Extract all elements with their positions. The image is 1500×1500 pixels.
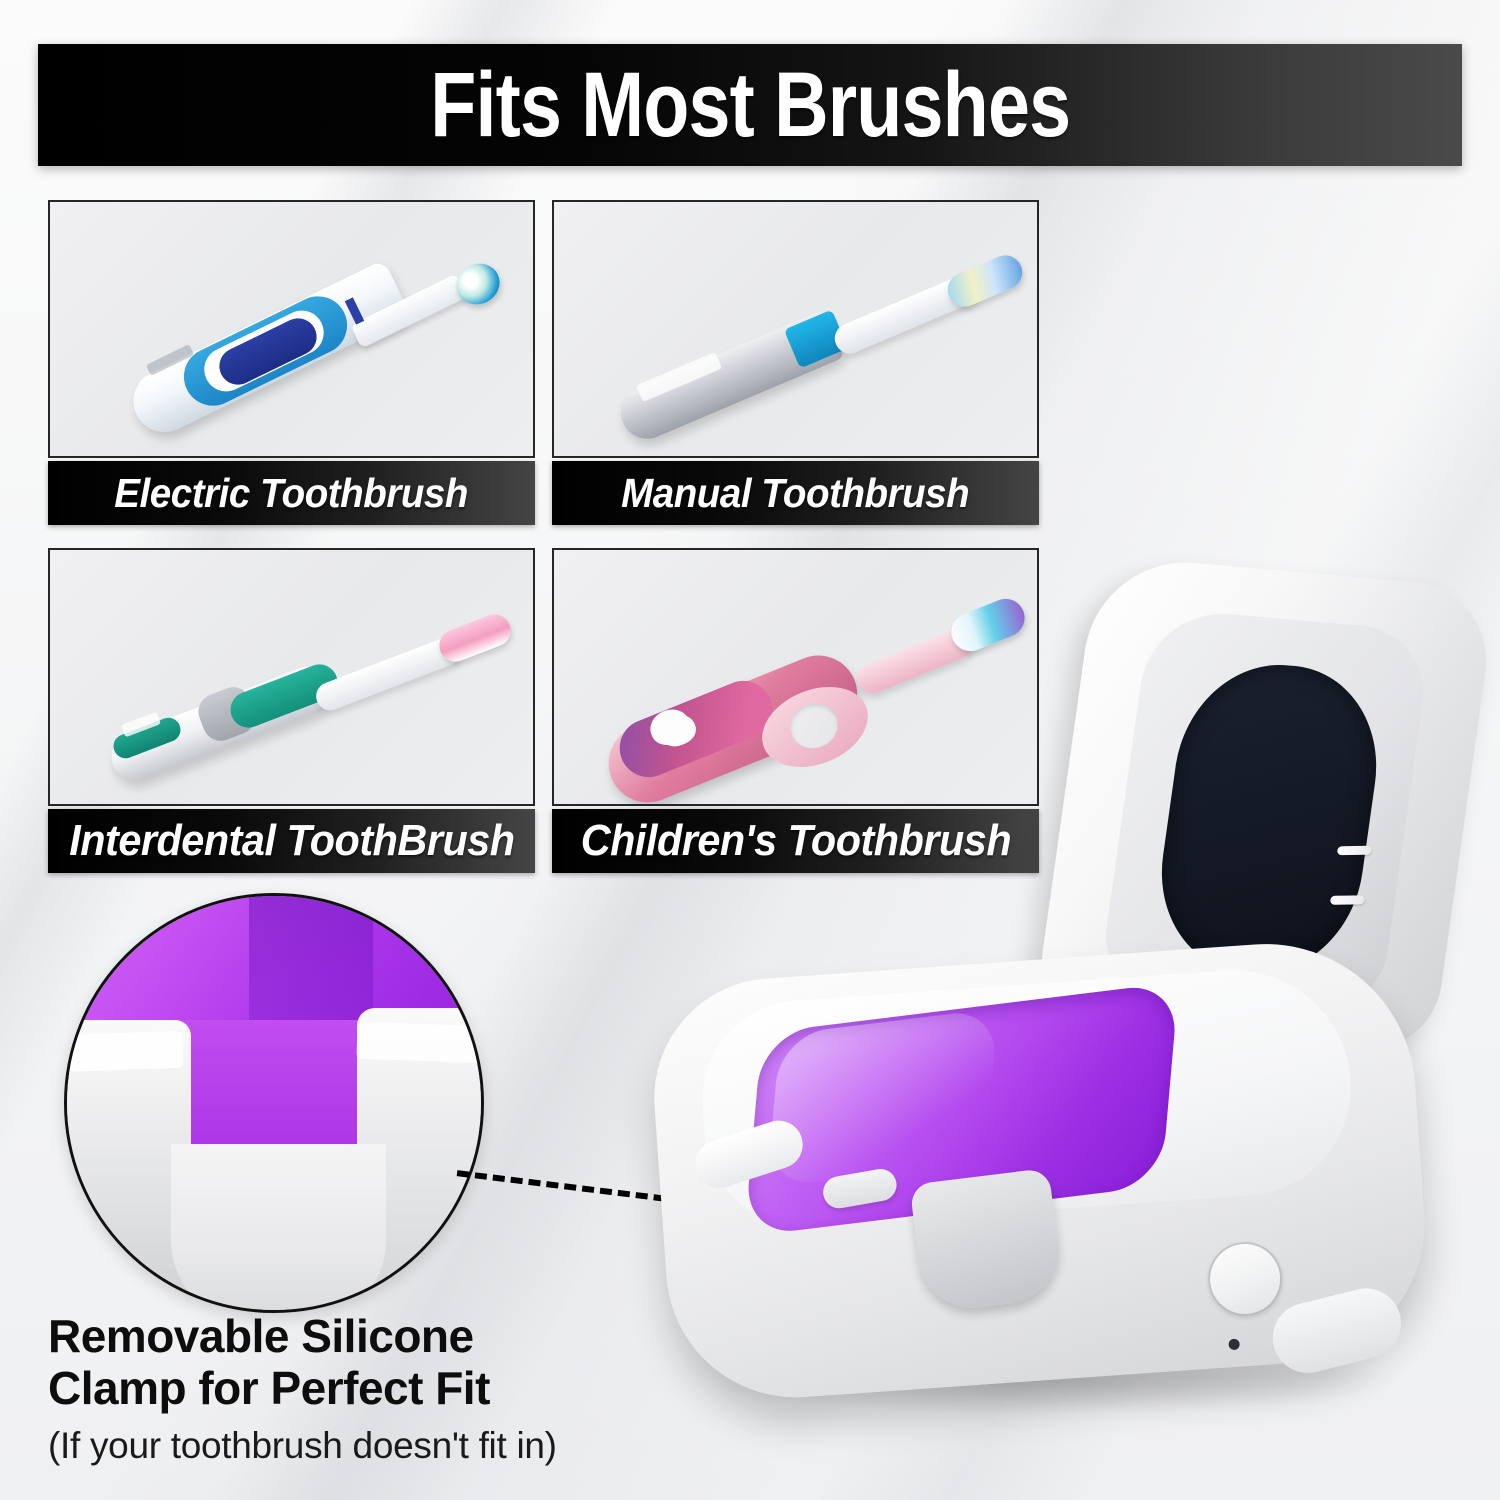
caption-subtitle: (If your toothbrush doesn't fit in) <box>48 1425 688 1467</box>
vent-slot-icon <box>1330 895 1364 905</box>
status-led <box>1228 1339 1240 1351</box>
vent-slot-icon <box>1337 846 1371 856</box>
clamp-u-notch <box>171 1144 386 1313</box>
clamp-left-lip <box>64 1030 184 1072</box>
header-banner: Fits Most Brushes <box>38 44 1462 166</box>
caption-heading-line1: Removable Silicone <box>48 1310 474 1362</box>
caption-heading-line2: Clamp for Perfect Fit <box>48 1362 490 1414</box>
infographic-page: Fits Most Brushes Electric Toothbrush <box>0 0 1500 1500</box>
silicone-clamp-closeup <box>64 893 484 1313</box>
brush-head <box>435 610 516 666</box>
grid-cell-manual: Manual Toothbrush <box>552 200 1039 525</box>
label-text: Interdental ToothBrush <box>69 816 514 866</box>
case-base <box>646 934 1433 1406</box>
power-button[interactable] <box>1203 1237 1287 1321</box>
electric-toothbrush-photo <box>48 200 535 458</box>
case-hinge <box>1265 1281 1408 1380</box>
silicone-clamp[interactable] <box>909 1168 1064 1314</box>
clamp-right-lip <box>356 1022 484 1064</box>
uv-toothbrush-sanitizer-case <box>640 555 1500 1500</box>
label-text: Electric Toothbrush <box>115 470 469 517</box>
grid-cell-interdental: Interdental ToothBrush <box>48 548 535 873</box>
grid-cell-electric: Electric Toothbrush <box>48 200 535 525</box>
brush-head <box>449 256 506 311</box>
label-bar-electric: Electric Toothbrush <box>48 461 535 525</box>
caption-block: Removable Silicone Clamp for Perfect Fit… <box>48 1310 688 1467</box>
label-bar-manual: Manual Toothbrush <box>552 461 1039 525</box>
caption-heading: Removable Silicone Clamp for Perfect Fit <box>48 1310 688 1415</box>
manual-toothbrush-photo <box>552 200 1039 458</box>
label-bar-interdental: Interdental ToothBrush <box>48 809 535 873</box>
label-text: Manual Toothbrush <box>621 470 969 517</box>
page-title: Fits Most Brushes <box>430 59 1070 151</box>
interdental-toothbrush-photo <box>48 548 535 806</box>
brush-head <box>942 250 1027 312</box>
